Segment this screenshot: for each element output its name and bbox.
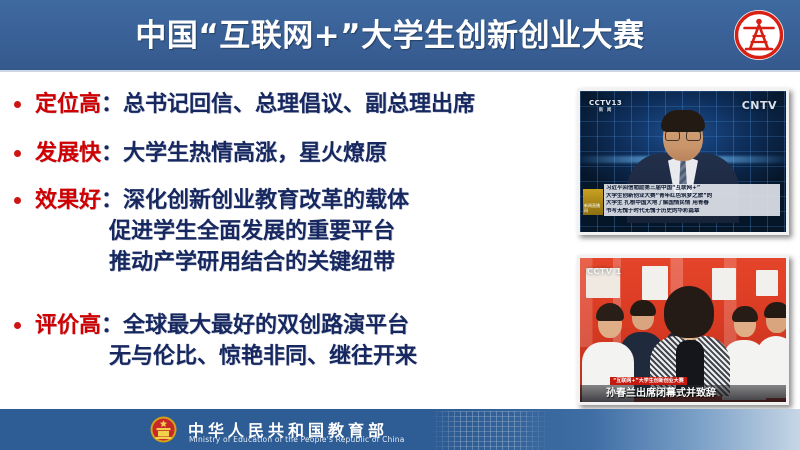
news-anchor-hair [661, 110, 705, 132]
bullet-dot-icon [14, 150, 21, 157]
presentation-slide: 中国“互联网+”大学生创新创业大赛 定位高：总书记回信、总理倡议、副总理出席 [0, 0, 800, 450]
list-item: 定位高：总书记回信、总理倡议、副总理出席 [14, 89, 475, 120]
bullet-label: 效果好 [35, 188, 101, 213]
bullet-line: 发展快：大学生热情高涨，星火燎原 [35, 141, 387, 166]
bullet-line-text: 深化创新创业教育改革的载体 [123, 188, 409, 213]
bullet-label: 评价高 [35, 313, 101, 338]
event-caption-subtitle: “互联网+”大学生创新创业大赛 [610, 377, 687, 385]
bullet-text-group: 定位高：总书记回信、总理倡议、副总理出席 [35, 89, 475, 120]
bullet-dot-icon [14, 322, 21, 329]
main-official-hair [664, 286, 714, 338]
cctv-channel-subtitle: 新 闻 [589, 107, 622, 113]
bullet-dot-icon [14, 101, 21, 108]
event-caption-headline: 孙春兰出席闭幕式并致辞 [606, 387, 716, 401]
subtitle-line: 大学生 扎根中国大地了解国情民情 用青春 [606, 200, 778, 207]
national-emblem-icon [150, 416, 177, 443]
bullet-label: 定位高 [35, 92, 101, 117]
cctv-channel-number: 13 [611, 99, 622, 107]
bullet-line: 效果好：深化创新创业教育改革的载体 [35, 188, 409, 213]
competition-emblem-icon [732, 8, 786, 62]
bullet-line: 促进学生全面发展的重要平台 [35, 219, 395, 244]
bullet-line-text: 全球最大最好的双创路演平台 [123, 313, 409, 338]
bullet-colon: ： [101, 141, 123, 166]
bullet-line-text: 大学生热情高涨，星火燎原 [123, 141, 387, 166]
news-program-badge: 新闻直播间 [583, 189, 603, 215]
list-item: 发展快：大学生热情高涨，星火燎原 [14, 138, 387, 169]
slide-footer: 中华人民共和国教育部 Ministry of Education of the … [0, 409, 800, 450]
attendee-hair [764, 302, 789, 318]
list-item: 效果好：深化创新创业教育改革的载体 促进学生全面发展的重要平台 推动产学研用结合… [14, 185, 568, 278]
studio-background: CCTV13 新 闻 CNTV 新闻直播间 习近平回信勉励第三届中国“互联网+”… [580, 91, 786, 232]
attendee-hair [630, 300, 656, 316]
attendee-hair [732, 306, 758, 322]
bullet-line: 无与伦比、惊艳非同、继往开来 [35, 344, 417, 369]
ministry-building-graphic [430, 411, 550, 450]
page-title: 中国“互联网+”大学生创新创业大赛 [90, 12, 690, 60]
event-background: CCTV 1 “互联网+”大学生创新创业大赛 孙春兰出席闭幕式并致辞 [580, 258, 786, 402]
bullet-colon: ： [101, 188, 123, 213]
bullet-line-text: 总书记回信、总理倡议、副总理出席 [123, 92, 475, 117]
bullet-label: 发展快 [35, 141, 101, 166]
ministry-name-en: Ministry of Education of the People's Re… [189, 435, 405, 444]
bullet-text-group: 评价高：全球最大最好的双创路演平台 无与伦比、惊艳非同、继往开来 [35, 310, 568, 372]
bullet-line: 推动产学研用结合的关键纽带 [35, 250, 395, 275]
slide-body: 定位高：总书记回信、总理倡议、副总理出席 发展快：大学生热情高涨，星火燎原 效果… [0, 78, 568, 398]
booth-panel [712, 268, 736, 300]
cntv-watermark: CNTV [742, 99, 777, 112]
bullet-text-group: 效果好：深化创新创业教育改革的载体 促进学生全面发展的重要平台 推动产学研用结合… [35, 185, 568, 278]
header-divider [0, 70, 800, 72]
booth-panel [642, 266, 668, 300]
bullet-colon: ： [101, 313, 123, 338]
cctv-logo-text: CCTV [589, 99, 611, 107]
broadcast-subtitle-box: 习近平回信勉励第三届中国“互联网+” 大学生创新创业大赛“青年红色筑梦之旅”的 … [604, 184, 780, 216]
cctv13-channel-logo: CCTV13 新 闻 [589, 99, 622, 113]
subtitle-line: 大学生创新创业大赛“青年红色筑梦之旅”的 [606, 193, 778, 200]
subtitle-line: 书写无愧于时代无愧于历史的华彩篇章 [606, 208, 778, 215]
booth-panel [756, 270, 778, 296]
subtitle-line: 习近平回信勉励第三届中国“互联网+” [606, 185, 778, 192]
bullet-colon: ： [101, 92, 123, 117]
award-ceremony-officials-photo: CCTV 1 “互联网+”大学生创新创业大赛 孙春兰出席闭幕式并致辞 [577, 255, 789, 405]
list-item: 评价高：全球最大最好的双创路演平台 无与伦比、惊艳非同、继往开来 [14, 310, 568, 372]
cctv1-channel-logo: CCTV 1 [587, 267, 622, 276]
bullet-dot-icon [14, 197, 21, 204]
bullet-line: 定位高：总书记回信、总理倡议、副总理出席 [35, 92, 475, 117]
news-program-badge-label: 新闻直播间 [584, 203, 602, 213]
news-anchor-glasses [665, 130, 701, 140]
slide-header: 中国“互联网+”大学生创新创业大赛 [0, 0, 800, 70]
cctv13-news-broadcast-photo: CCTV13 新 闻 CNTV 新闻直播间 习近平回信勉励第三届中国“互联网+”… [577, 88, 789, 235]
bullet-text-group: 发展快：大学生热情高涨，星火燎原 [35, 138, 387, 169]
bullet-line: 评价高：全球最大最好的双创路演平台 [35, 313, 409, 338]
